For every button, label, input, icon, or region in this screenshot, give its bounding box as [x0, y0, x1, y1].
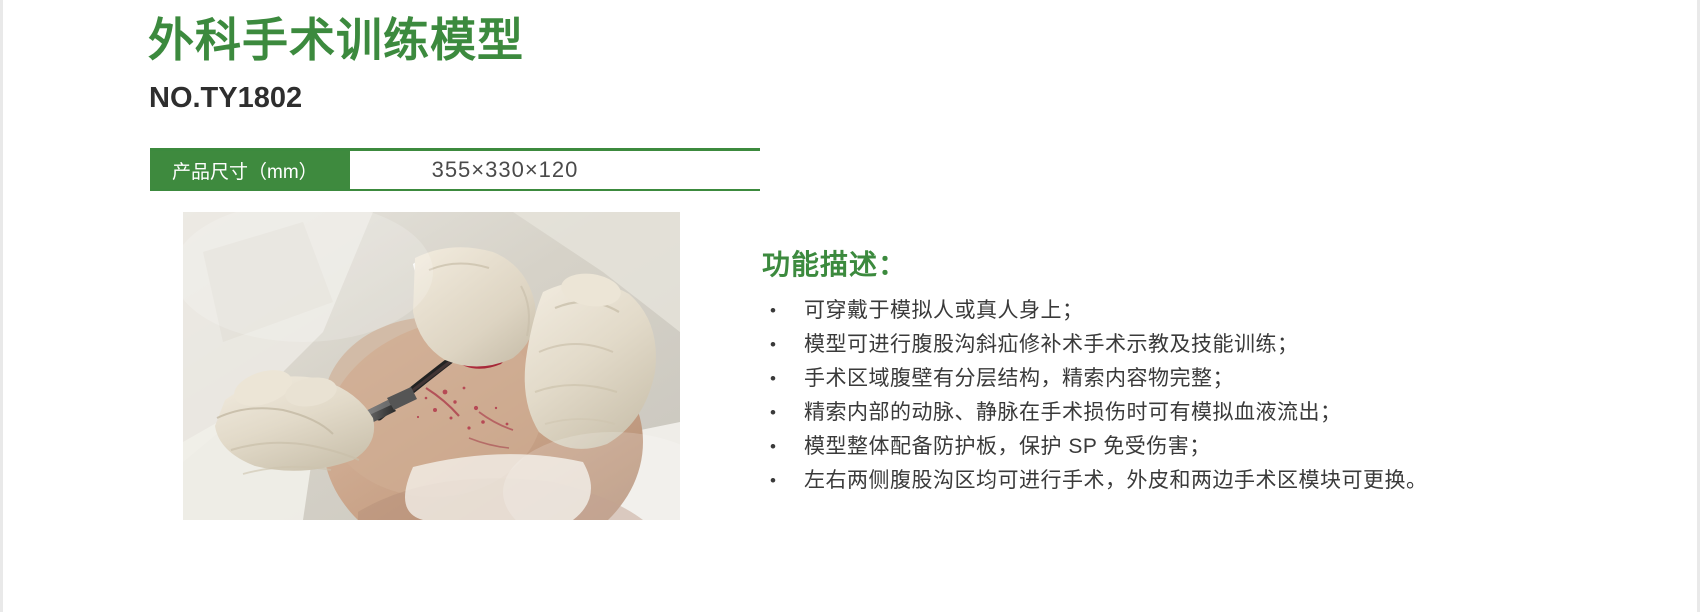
bullet-icon: •: [762, 396, 804, 430]
feature-list: • 可穿戴于模拟人或真人身上； • 模型可进行腹股沟斜疝修补术手术示教及技能训练…: [762, 294, 1662, 498]
product-spec-page: 外科手术训练模型 NO.TY1802 产品尺寸（mm） 355×330×120: [0, 0, 1700, 612]
product-photo: [183, 212, 680, 520]
list-item-label: 模型可进行腹股沟斜疝修补术手术示教及技能训练；: [804, 328, 1662, 362]
list-item-label: 左右两侧腹股沟区均可进行手术，外皮和两边手术区模块可更换。: [804, 464, 1662, 498]
page-left-edge-strip: [0, 0, 3, 612]
list-item-label: 精索内部的动脉、静脉在手术损伤时可有模拟血液流出；: [804, 396, 1662, 430]
list-item-label: 手术区域腹壁有分层结构，精索内容物完整；: [804, 362, 1662, 396]
list-item-label: 模型整体配备防护板，保护 SP 免受伤害；: [804, 430, 1662, 464]
bullet-icon: •: [762, 328, 804, 362]
spec-label-product-size: 产品尺寸（mm）: [150, 151, 350, 189]
table-row: 产品尺寸（mm） 355×330×120: [150, 151, 760, 189]
list-item: • 手术区域腹壁有分层结构，精索内容物完整；: [762, 362, 1662, 396]
list-item: • 左右两侧腹股沟区均可进行手术，外皮和两边手术区模块可更换。: [762, 464, 1662, 498]
bullet-icon: •: [762, 362, 804, 396]
page-title: 外科手术训练模型: [148, 10, 524, 70]
list-item-label: 可穿戴于模拟人或真人身上；: [804, 294, 1662, 328]
list-item: • 模型可进行腹股沟斜疝修补术手术示教及技能训练；: [762, 328, 1662, 362]
list-item: • 可穿戴于模拟人或真人身上；: [762, 294, 1662, 328]
bullet-icon: •: [762, 294, 804, 328]
bullet-icon: •: [762, 464, 804, 498]
list-item: • 模型整体配备防护板，保护 SP 免受伤害；: [762, 430, 1662, 464]
feature-description-heading: 功能描述：: [762, 246, 1662, 284]
spec-value-product-size: 355×330×120: [350, 151, 760, 189]
feature-description-section: 功能描述： • 可穿戴于模拟人或真人身上； • 模型可进行腹股沟斜疝修补术手术示…: [762, 246, 1662, 498]
bullet-icon: •: [762, 430, 804, 464]
product-photo-image: [183, 212, 680, 520]
product-model-number: NO.TY1802: [149, 79, 302, 117]
list-item: • 精索内部的动脉、静脉在手术损伤时可有模拟血液流出；: [762, 396, 1662, 430]
specification-table: 产品尺寸（mm） 355×330×120: [150, 148, 760, 191]
